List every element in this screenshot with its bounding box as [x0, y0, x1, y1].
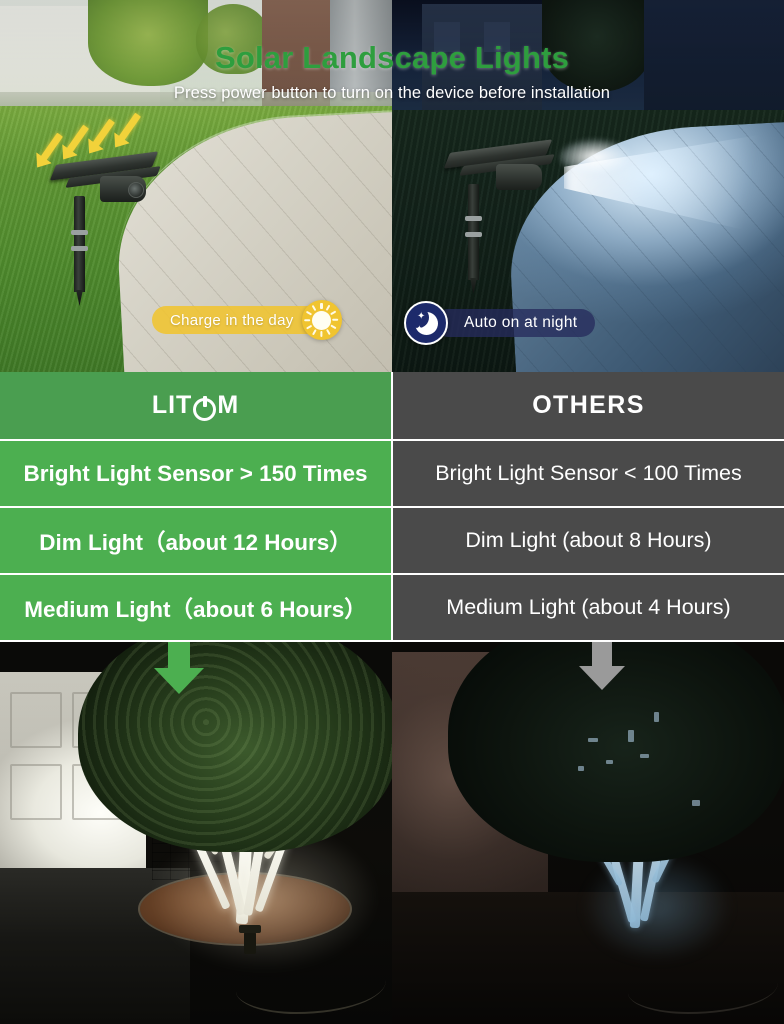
- auto-on-night-label: Auto on at night: [434, 309, 595, 337]
- bottom-photo-pair: [0, 642, 784, 1024]
- others-value-row-3: Medium Light (about 4 Hours): [446, 595, 730, 620]
- garden-hose: [236, 958, 386, 1014]
- charge-in-day-badge: Charge in the day: [152, 306, 334, 334]
- tree-canopy: [78, 642, 392, 852]
- others-value-row-1: Bright Light Sensor < 100 Times: [435, 461, 742, 486]
- table-header-row: LIT M OTHERS: [0, 372, 784, 439]
- comparison-table: LIT M OTHERS Bright Light Sensor > 150 T…: [0, 372, 784, 642]
- others-cell-row-2: Dim Light (about 8 Hours): [393, 508, 784, 573]
- litom-brand-header: LIT M: [0, 372, 391, 439]
- others-cell-row-3: Medium Light (about 4 Hours): [393, 575, 784, 640]
- others-header-label: OTHERS: [532, 391, 645, 420]
- table-row: Medium Light（about 6 Hours） Medium Light…: [0, 573, 784, 640]
- sun-icon: [302, 300, 342, 340]
- others-down-arrow-head: [579, 666, 625, 690]
- page-title: Solar Landscape Lights: [0, 40, 784, 76]
- litom-down-arrow-head: [154, 668, 204, 694]
- power-ring-icon: [192, 394, 217, 423]
- moon-stars-icon: ✦ ✦ ✦: [404, 301, 448, 345]
- litom-down-arrow-stem: [168, 642, 190, 670]
- litom-value-row-1: Bright Light Sensor > 150 Times: [23, 461, 367, 487]
- table-row: Bright Light Sensor > 150 Times Bright L…: [0, 439, 784, 506]
- litom-logo-text-left: LIT: [152, 391, 193, 420]
- litom-value-row-2: Dim Light（about 12 Hours）: [39, 525, 352, 557]
- others-down-arrow-stem: [592, 642, 612, 668]
- others-value-row-2: Dim Light (about 8 Hours): [465, 528, 711, 553]
- others-result-photo: [392, 642, 784, 1024]
- light-beam-core: [560, 140, 630, 174]
- installed-spotlight: [244, 932, 256, 954]
- table-row: Dim Light（about 12 Hours） Dim Light (abo…: [0, 506, 784, 573]
- litom-value-row-3: Medium Light（about 6 Hours）: [24, 592, 367, 624]
- others-cell-row-1: Bright Light Sensor < 100 Times: [393, 441, 784, 506]
- page-subtitle: Press power button to turn on the device…: [0, 84, 784, 103]
- litom-cell-row-3: Medium Light（about 6 Hours）: [0, 575, 391, 640]
- sun-core: [312, 311, 331, 330]
- auto-on-night-badge: ✦ ✦ ✦ Auto on at night: [404, 301, 595, 345]
- litom-cell-row-1: Bright Light Sensor > 150 Times: [0, 441, 391, 506]
- litom-result-photo: [0, 642, 392, 1024]
- others-header: OTHERS: [393, 372, 784, 439]
- infographic-page: Solar Landscape Lights Press power butto…: [0, 0, 784, 1024]
- hero-section: Solar Landscape Lights Press power butto…: [0, 0, 784, 372]
- litom-cell-row-2: Dim Light（about 12 Hours）: [0, 508, 391, 573]
- litom-logo-text-right: M: [217, 391, 239, 420]
- litom-logo: LIT M: [152, 391, 239, 420]
